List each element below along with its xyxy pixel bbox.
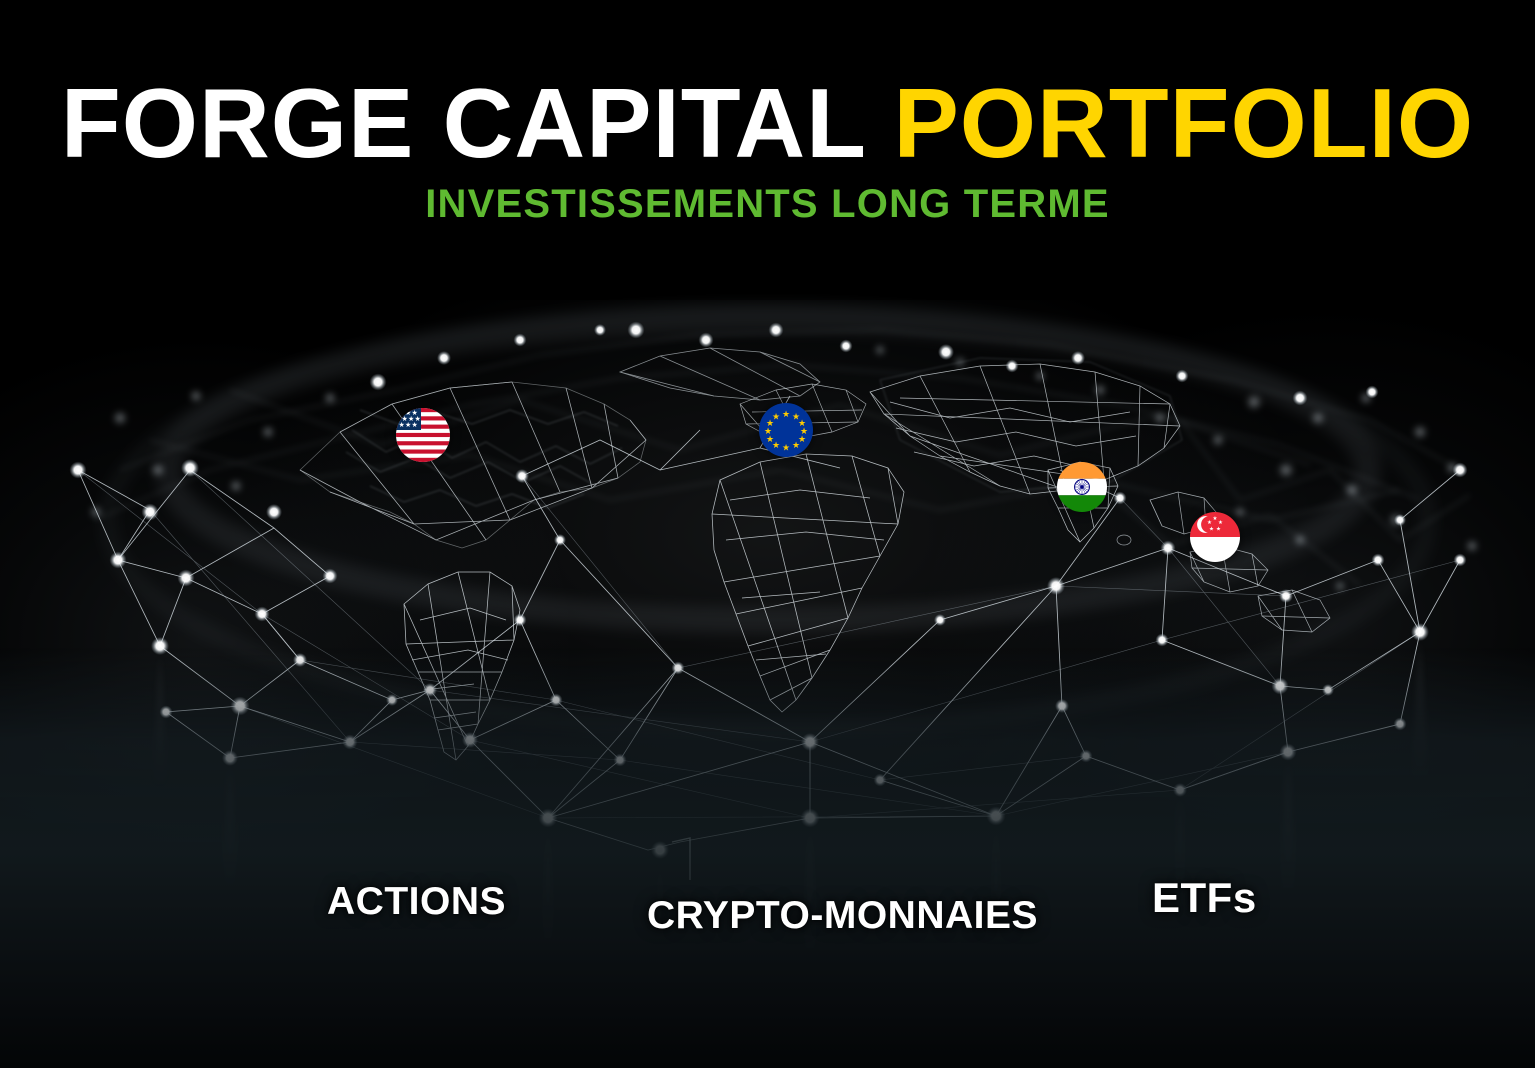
title-white-part: FORGE CAPITAL: [61, 68, 865, 178]
flag-usa-icon[interactable]: ★★★ ★★★ ★★★: [396, 408, 450, 462]
svg-text:★: ★: [1216, 527, 1221, 533]
continents-wireframe: [300, 348, 1330, 760]
floor-gradient: [0, 648, 1535, 1068]
flag-eu-icon[interactable]: ★ ★★ ★★ ★★ ★★ ★★ ★: [759, 403, 813, 457]
category-label-crypto: CRYPTO-MONNAIES: [647, 894, 1038, 938]
globe-ambient-glow: [230, 300, 1310, 820]
svg-text:★: ★: [412, 421, 418, 429]
network-nodes: [70, 322, 1468, 881]
page-title: FORGE CAPITAL PORTFOLIO: [0, 72, 1535, 175]
svg-text:★: ★: [772, 441, 780, 451]
network-links-faint: [78, 470, 1460, 818]
svg-text:★: ★: [782, 444, 790, 454]
poster-canvas: ★★★ ★★★ ★★★ ★ ★★ ★★ ★★ ★★ ★★ ★: [0, 0, 1535, 1068]
svg-text:★: ★: [1209, 527, 1214, 533]
svg-text:★: ★: [792, 441, 800, 451]
floor-light-cones: [152, 640, 1430, 1010]
category-label-actions: ACTIONS: [327, 880, 506, 924]
svg-text:★: ★: [1213, 516, 1218, 522]
svg-text:★: ★: [1207, 520, 1212, 526]
network-nodes-back: [89, 344, 1479, 592]
network-links-front: [78, 396, 1460, 850]
flag-india-icon[interactable]: [1057, 462, 1107, 512]
svg-text:★: ★: [782, 410, 790, 420]
title-accent-part: PORTFOLIO: [893, 68, 1474, 178]
ambient-glow-left: [0, 330, 580, 950]
page-subtitle: INVESTISSEMENTS LONG TERME: [0, 182, 1535, 227]
network-links-back: [95, 330, 1470, 585]
category-label-etfs: ETFs: [1152, 874, 1257, 922]
ambient-glow-right: [915, 300, 1535, 940]
svg-text:★: ★: [405, 421, 411, 429]
flag-singapore-icon[interactable]: ★ ★ ★ ★ ★: [1190, 512, 1240, 562]
svg-text:★: ★: [399, 421, 405, 429]
svg-text:★: ★: [1218, 520, 1223, 526]
